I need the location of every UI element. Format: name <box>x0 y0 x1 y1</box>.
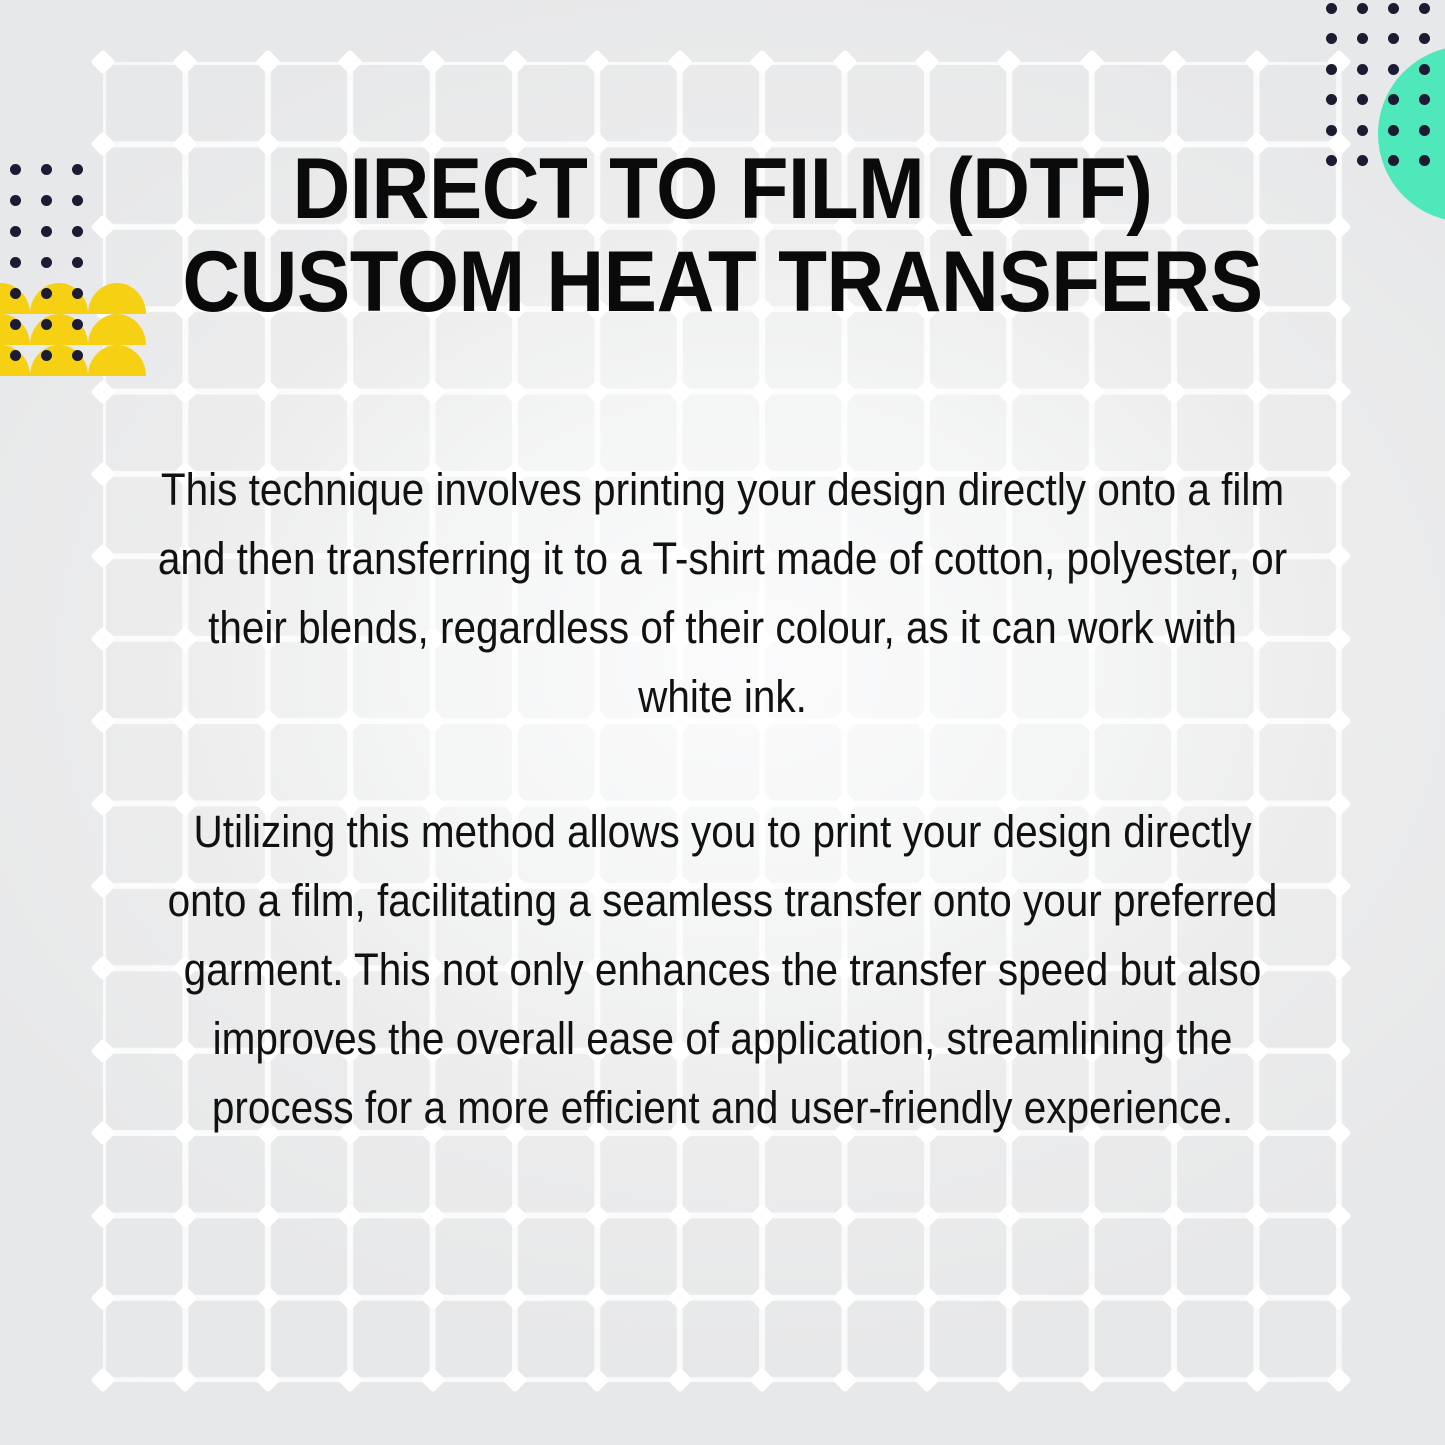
content-area: DIRECT TO FILM (DTF) CUSTOM HEAT TRANSFE… <box>0 0 1445 1445</box>
page-title: DIRECT TO FILM (DTF) CUSTOM HEAT TRANSFE… <box>153 143 1292 329</box>
paragraph-1: This technique involves printing your de… <box>158 455 1288 731</box>
paragraph-2: Utilizing this method allows you to prin… <box>158 797 1288 1142</box>
poster-canvas: DIRECT TO FILM (DTF) CUSTOM HEAT TRANSFE… <box>0 0 1445 1445</box>
